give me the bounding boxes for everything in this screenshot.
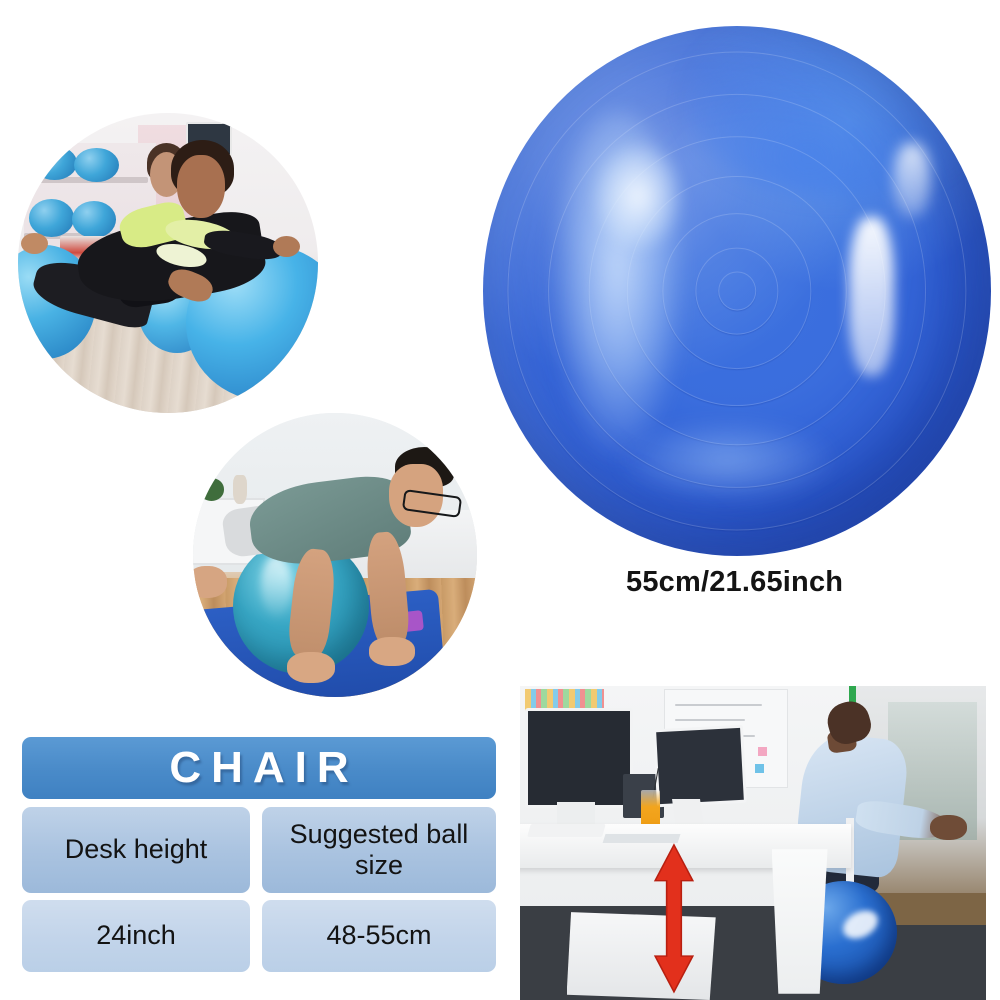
table-header-bar: CHAIR <box>22 737 496 799</box>
product-ball-image <box>483 26 991 556</box>
home-man-foot <box>193 566 227 597</box>
home-scene <box>193 413 477 697</box>
product-infographic: 55cm/21.65inch <box>0 0 1000 1000</box>
rack-ball <box>32 146 77 180</box>
office-person-hand <box>930 815 967 840</box>
rack-ball <box>29 199 74 236</box>
sticky-note <box>755 764 764 773</box>
photo-office-ball-chair <box>520 686 986 1000</box>
photo-man-plank-on-ball <box>193 413 477 697</box>
gym-scene <box>18 113 318 413</box>
home-vase <box>233 475 247 503</box>
rack-ball <box>74 148 119 182</box>
office-monitor-small <box>653 725 747 808</box>
table-cell-ball-size-value: 48-55cm <box>262 900 496 972</box>
home-man-hand <box>369 637 414 665</box>
home-plant <box>199 478 225 501</box>
chair-sizing-table: CHAIR Desk height Suggested ball size 24… <box>22 737 496 972</box>
gym-woman-hand <box>273 236 300 257</box>
table-column-header-ball-size: Suggested ball size <box>262 807 496 893</box>
double-arrow-vertical-icon <box>653 843 695 994</box>
office-desk-side-panel <box>772 849 828 993</box>
ball-size-label: 55cm/21.65inch <box>626 566 843 599</box>
exercise-ball-graphic <box>483 26 991 556</box>
office-keyboard <box>528 824 606 837</box>
ball-highlight-right-upper <box>894 143 930 217</box>
gym-woman-head <box>177 155 225 218</box>
ball-highlight-bottom <box>615 418 839 503</box>
table-title: CHAIR <box>159 743 358 793</box>
rack-ball <box>72 201 117 238</box>
office-monitor-large <box>525 708 634 808</box>
whiteboard-line <box>675 704 762 706</box>
table-cell-desk-height-value: 24inch <box>22 900 250 972</box>
gym-woman-hand <box>21 233 48 254</box>
sticky-note <box>758 747 767 756</box>
home-man-hand <box>287 652 335 683</box>
office-monitor-small-stand <box>672 799 704 827</box>
table-column-header-desk-height: Desk height <box>22 807 250 893</box>
office-papers <box>602 834 680 843</box>
whiteboard-line <box>675 719 745 721</box>
ball-highlight-right <box>849 217 895 376</box>
photo-gym-women-stretching <box>18 113 318 413</box>
ball-highlight-left-specular <box>595 143 681 249</box>
ball-ring <box>718 271 756 310</box>
